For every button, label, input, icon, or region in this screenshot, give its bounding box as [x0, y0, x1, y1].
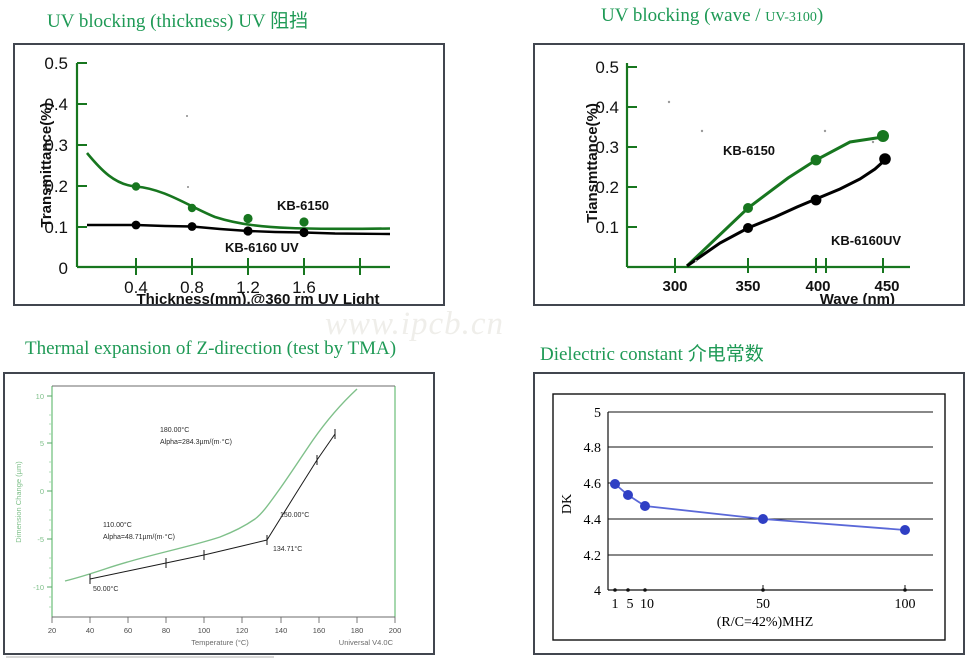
- series-label-kb6150: KB-6150: [723, 143, 775, 158]
- y-tick-marks: [77, 63, 87, 227]
- scan-speck: [695, 260, 697, 262]
- x-axis-title: Temperature (°C): [191, 638, 249, 647]
- slide-canvas: www.ipcb.cn UV blocking (thickness) UV 阻…: [0, 0, 980, 661]
- x-tick-marks: [52, 617, 395, 623]
- y-axis-title: Transmittance(%): [38, 102, 55, 227]
- annotation-onset-150: 150.00°C: [280, 511, 309, 519]
- y-tick-label: 0.5: [595, 58, 619, 77]
- series-line-tangent-high: [267, 434, 335, 540]
- y-tick-label: 4.2: [584, 549, 602, 564]
- annotation-lower-alpha-line1: 110.00°C: [103, 521, 132, 529]
- y-tick-label: 4.6: [584, 477, 602, 492]
- x-tick-label: 1: [612, 597, 619, 612]
- series-label-kb6160uv: KB-6160UV: [831, 233, 901, 248]
- x-tick-label: 140: [275, 626, 288, 635]
- scan-speck: [668, 101, 670, 103]
- y-tick-label: 0: [59, 259, 68, 278]
- y-tick-label: 0.5: [44, 54, 68, 73]
- y-tick-label: 5: [594, 406, 601, 421]
- gridlines: [608, 412, 933, 555]
- page-title-tma: Thermal expansion of Z-direction (test b…: [25, 338, 396, 360]
- x-tick-label: 20: [48, 626, 56, 635]
- y-axis-title: Tiansmttance(%): [584, 103, 601, 223]
- scan-speck: [872, 141, 874, 143]
- x-axis-title: (R/C=42%)MHZ: [717, 615, 814, 630]
- title-text-cjk: 阻挡: [270, 10, 308, 32]
- x-axis-title: Wave (nm): [820, 291, 895, 304]
- annotation-lower-alpha-line2: Alpha=48.71µm/(m·°C): [103, 533, 175, 541]
- title-text-main: UV blocking (wave /: [601, 5, 765, 26]
- series-label-kb6160uv: KB-6160 UV: [225, 240, 299, 255]
- y-tick-label: -10: [33, 583, 44, 592]
- chart-panel-uv-thickness: 0.5 0.4 0.3 0.2 0.1 0 0.4 0.8 1.2 1.6 Tr…: [13, 43, 445, 306]
- series-line-tma-curve: [65, 389, 357, 581]
- chart-panel-dielectric: 5 4.8 4.6 4.4 4.2 4 DK 1 5 10 50: [533, 372, 965, 655]
- page-title-dielectric: Dielectric constant 介电常数: [540, 339, 764, 366]
- scan-speck: [701, 130, 703, 132]
- chart-footer-universal: Universal V4.0C: [339, 638, 394, 647]
- annotation-onset-134: 134.71°C: [273, 545, 302, 553]
- x-tick-marks: [763, 585, 905, 590]
- x-tick-label: 60: [124, 626, 132, 635]
- y-tick-label: 5: [40, 439, 44, 448]
- annotation-onset-50: 50.00°C: [93, 585, 118, 593]
- x-tick-label: 5: [627, 597, 634, 612]
- series-line-kb6150: [87, 153, 390, 229]
- scan-speck: [186, 115, 188, 117]
- scan-speck: [187, 186, 189, 188]
- series-line-tangent-low: [90, 540, 267, 579]
- scan-speck: [824, 130, 826, 132]
- x-tick-label: 350: [735, 278, 760, 295]
- x-tick-label: 300: [662, 278, 687, 295]
- y-tick-marks: [627, 67, 637, 227]
- chart-uv-wave: 0.5 0.4 0.3 0.2 0.1 300 350 400 450 Tian…: [535, 45, 963, 304]
- x-tick-label: 40: [86, 626, 94, 635]
- title-text-main: UV blocking (thickness) UV: [47, 11, 270, 32]
- x-tick-label: 120: [236, 626, 249, 635]
- y-tick-label: 4.8: [584, 441, 602, 456]
- annotation-upper-alpha-line2: Alpha=284.3µm/(m·°C): [160, 438, 232, 446]
- x-tick-label: 50: [756, 597, 770, 612]
- x-tick-label: 200: [389, 626, 402, 635]
- y-tick-label: 4.4: [584, 513, 602, 528]
- x-tick-label: 80: [162, 626, 170, 635]
- y-tick-label: 4: [594, 584, 601, 599]
- title-text-tail: ): [817, 5, 823, 26]
- y-axis-title: Dimension Change (µm): [14, 461, 23, 543]
- title-text-cjk: 介电常数: [688, 343, 764, 365]
- x-tick-label: 10: [640, 597, 654, 612]
- x-tick-label: 100: [895, 597, 916, 612]
- x-axis-title: Thickness(mm),@360 rm UV Light: [136, 291, 379, 304]
- page-title-uv-wave: UV blocking (wave / UV-3100): [601, 5, 823, 27]
- tangent-hash-marks: [90, 429, 335, 584]
- y-axis-title: DK: [560, 494, 575, 514]
- title-text-small: UV-3100: [765, 10, 817, 25]
- chart-panel-uv-wave: 0.5 0.4 0.3 0.2 0.1 300 350 400 450 Tian…: [533, 43, 965, 306]
- y-tick-label: 10: [36, 392, 44, 401]
- x-tick-label: 160: [313, 626, 326, 635]
- bottom-divider: [6, 656, 274, 658]
- annotation-upper-alpha-line1: 180.00°C: [160, 426, 189, 434]
- y-tick-label: -5: [37, 535, 44, 544]
- x-tick-marks: [675, 258, 883, 273]
- x-tick-label: 180: [351, 626, 364, 635]
- series-line-dk: [615, 484, 905, 530]
- series-label-kb6150: KB-6150: [277, 198, 329, 213]
- chart-panel-tma: 10 5 0 -5 -10 Dimension Change (µm) 20 4…: [3, 372, 435, 655]
- page-title-uv-thickness: UV blocking (thickness) UV 阻挡: [47, 6, 308, 33]
- chart-uv-thickness: 0.5 0.4 0.3 0.2 0.1 0 0.4 0.8 1.2 1.6 Tr…: [15, 45, 443, 304]
- series-line-kb6160uv: [687, 160, 885, 266]
- chart-tma: 10 5 0 -5 -10 Dimension Change (µm) 20 4…: [5, 374, 433, 653]
- title-text-main: Dielectric constant: [540, 344, 688, 365]
- x-tick-label: 100: [198, 626, 211, 635]
- y-tick-label: 0: [40, 487, 44, 496]
- chart-dielectric: 5 4.8 4.6 4.4 4.2 4 DK 1 5 10 50: [535, 374, 963, 653]
